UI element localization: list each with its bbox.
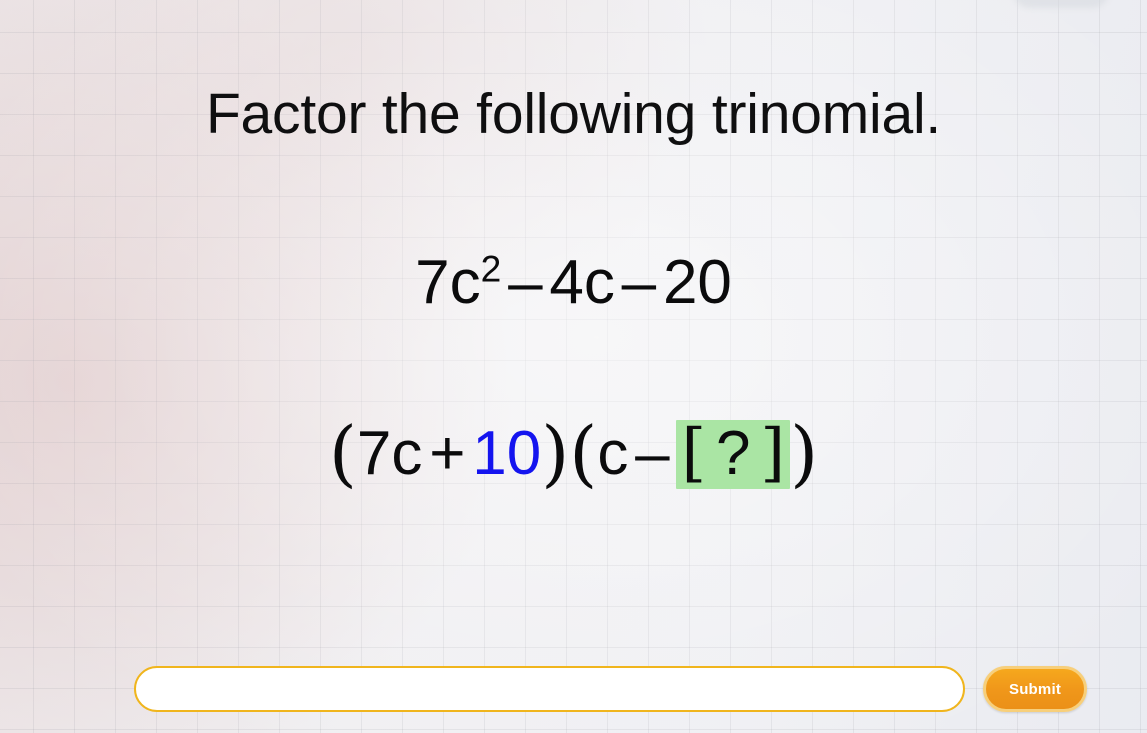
answer-blank-highlight[interactable]: [?] bbox=[676, 420, 790, 489]
answer-input[interactable] bbox=[134, 666, 965, 712]
expression-operator-2: – bbox=[615, 248, 663, 317]
page-title: Factor the following trinomial. bbox=[0, 84, 1147, 146]
question-content: Factor the following trinomial. 7c2–4c–2… bbox=[0, 0, 1147, 733]
answer-bar: Submit bbox=[134, 665, 1087, 713]
open-paren-1: ( bbox=[329, 411, 357, 495]
open-paren-2: ( bbox=[569, 411, 597, 495]
factor-1: 7c bbox=[357, 419, 422, 488]
blank-close-bracket: ] bbox=[760, 415, 785, 489]
trinomial-expression: 7c2–4c–20 bbox=[0, 252, 1147, 314]
math-question-screen: Factor the following trinomial. 7c2–4c–2… bbox=[0, 0, 1147, 733]
plus-operator: + bbox=[422, 419, 472, 488]
blank-question-mark: ? bbox=[706, 419, 760, 488]
expression-term-2: 4c bbox=[549, 248, 614, 317]
expression-term-3: 20 bbox=[663, 248, 732, 317]
factored-expression: (7c+10)(c–[?]) bbox=[0, 418, 1147, 490]
expression-variable: c bbox=[450, 248, 481, 317]
expression-operator-1: – bbox=[501, 248, 549, 317]
expression-exponent: 2 bbox=[481, 247, 502, 289]
known-number: 10 bbox=[472, 419, 541, 488]
minus-operator: – bbox=[628, 419, 676, 488]
expression-coefficient: 7 bbox=[415, 248, 449, 317]
blank-open-bracket: [ bbox=[681, 415, 706, 489]
close-paren-1: ) bbox=[541, 411, 569, 495]
submit-button[interactable]: Submit bbox=[983, 666, 1087, 712]
factor-2: c bbox=[597, 419, 628, 488]
close-paren-2: ) bbox=[790, 411, 818, 495]
